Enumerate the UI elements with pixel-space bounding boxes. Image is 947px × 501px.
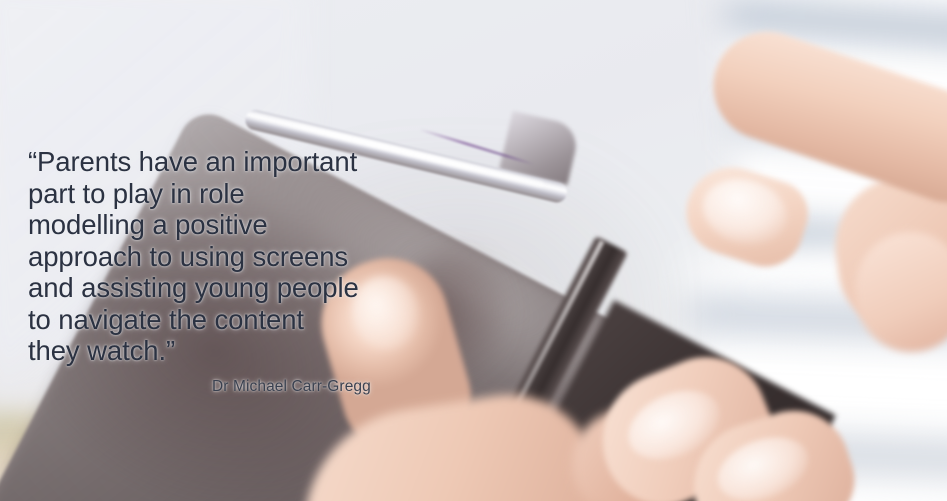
index-finger-tip: [675, 156, 816, 277]
blurred-scene-bottom-centre: [330, 400, 540, 501]
grip-finger-lower-nail: [709, 426, 817, 501]
blurred-white-surface: [60, 462, 390, 501]
blurred-dark-slab: [89, 413, 345, 480]
blurred-foliage: [0, 370, 100, 480]
quote-block: “Parents have an important part to play …: [28, 146, 428, 367]
grip-finger-upper: [582, 339, 788, 501]
middle-finger-lower: [852, 228, 947, 355]
smartphone-edge-purple-rim: [419, 128, 535, 166]
smartphone-top-right-corner: [499, 111, 581, 185]
quote-card: “Parents have an important part to play …: [0, 0, 947, 501]
striped-shirt-blur-top: [724, 0, 947, 309]
blurred-scene-bottom-left: [0, 352, 480, 501]
quote-attribution: Dr Michael Carr-Gregg: [212, 377, 371, 397]
grip-knuckle: [559, 394, 705, 501]
quote-text: “Parents have an important part to play …: [28, 146, 428, 367]
palm: [287, 382, 613, 501]
smartphone-side-band: [444, 236, 628, 501]
middle-finger-knuckle: [826, 166, 947, 335]
blurred-table-highlight: [120, 401, 320, 424]
smartphone-side-highlight: [452, 240, 604, 501]
striped-shirt-blur-bottom: [688, 237, 947, 501]
grip-finger-upper-nail: [618, 377, 731, 473]
smartphone-lower-shadow: [494, 300, 836, 501]
index-finger-nail: [695, 169, 795, 254]
index-finger: [699, 17, 947, 217]
grip-finger-lower: [677, 396, 866, 501]
